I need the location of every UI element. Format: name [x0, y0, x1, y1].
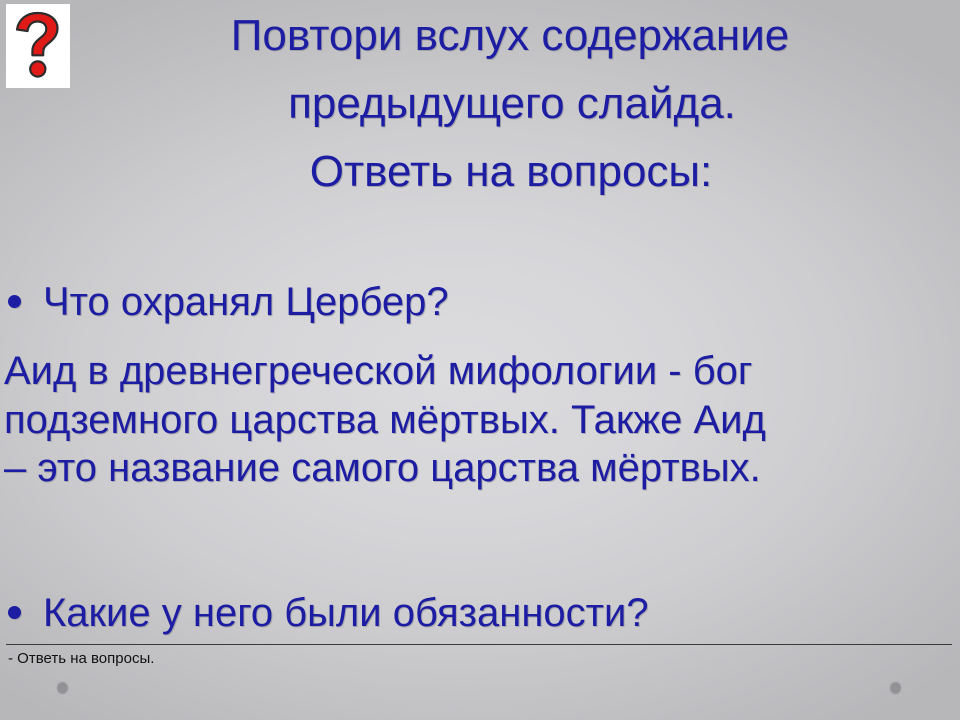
decorative-dot-left-icon — [57, 682, 68, 694]
title-line-2: предыдущего слайда. — [84, 70, 940, 138]
slide-body: Что охранял Цербер? Аид в древнегреческо… — [0, 276, 960, 640]
answer-paragraph: Аид в древнегреческой мифологии - бог по… — [0, 347, 960, 493]
list-item: Что охранял Цербер? — [0, 276, 960, 329]
slide-title: Повтори вслух содержание предыдущего сла… — [80, 2, 940, 207]
paragraph-line-1: Аид в древнегреческой мифологии - бог — [4, 347, 956, 396]
question-mark-icon — [12, 10, 64, 82]
slide-canvas: Повтори вслух содержание предыдущего сла… — [0, 0, 960, 720]
bullet-dot-icon — [8, 295, 21, 308]
question-mark-badge — [6, 4, 70, 88]
bullet-label-2: Какие у него были обязанности? — [43, 587, 649, 640]
footer-divider — [6, 644, 952, 645]
title-line-1: Повтори вслух содержание — [80, 2, 940, 70]
decorative-dot-right-icon — [890, 682, 901, 694]
footer-note: - Ответь на вопросы. — [8, 650, 154, 668]
paragraph-line-3: – это название самого царства мёртвых. — [4, 444, 956, 493]
title-line-3: Ответь на вопросы: — [82, 138, 940, 206]
bullet-label-1: Что охранял Цербер? — [43, 276, 449, 329]
bullet-dot-icon — [8, 606, 21, 619]
list-item: Какие у него были обязанности? — [0, 587, 960, 640]
paragraph-line-2: подземного царства мёртвых. Также Аид — [4, 396, 956, 445]
